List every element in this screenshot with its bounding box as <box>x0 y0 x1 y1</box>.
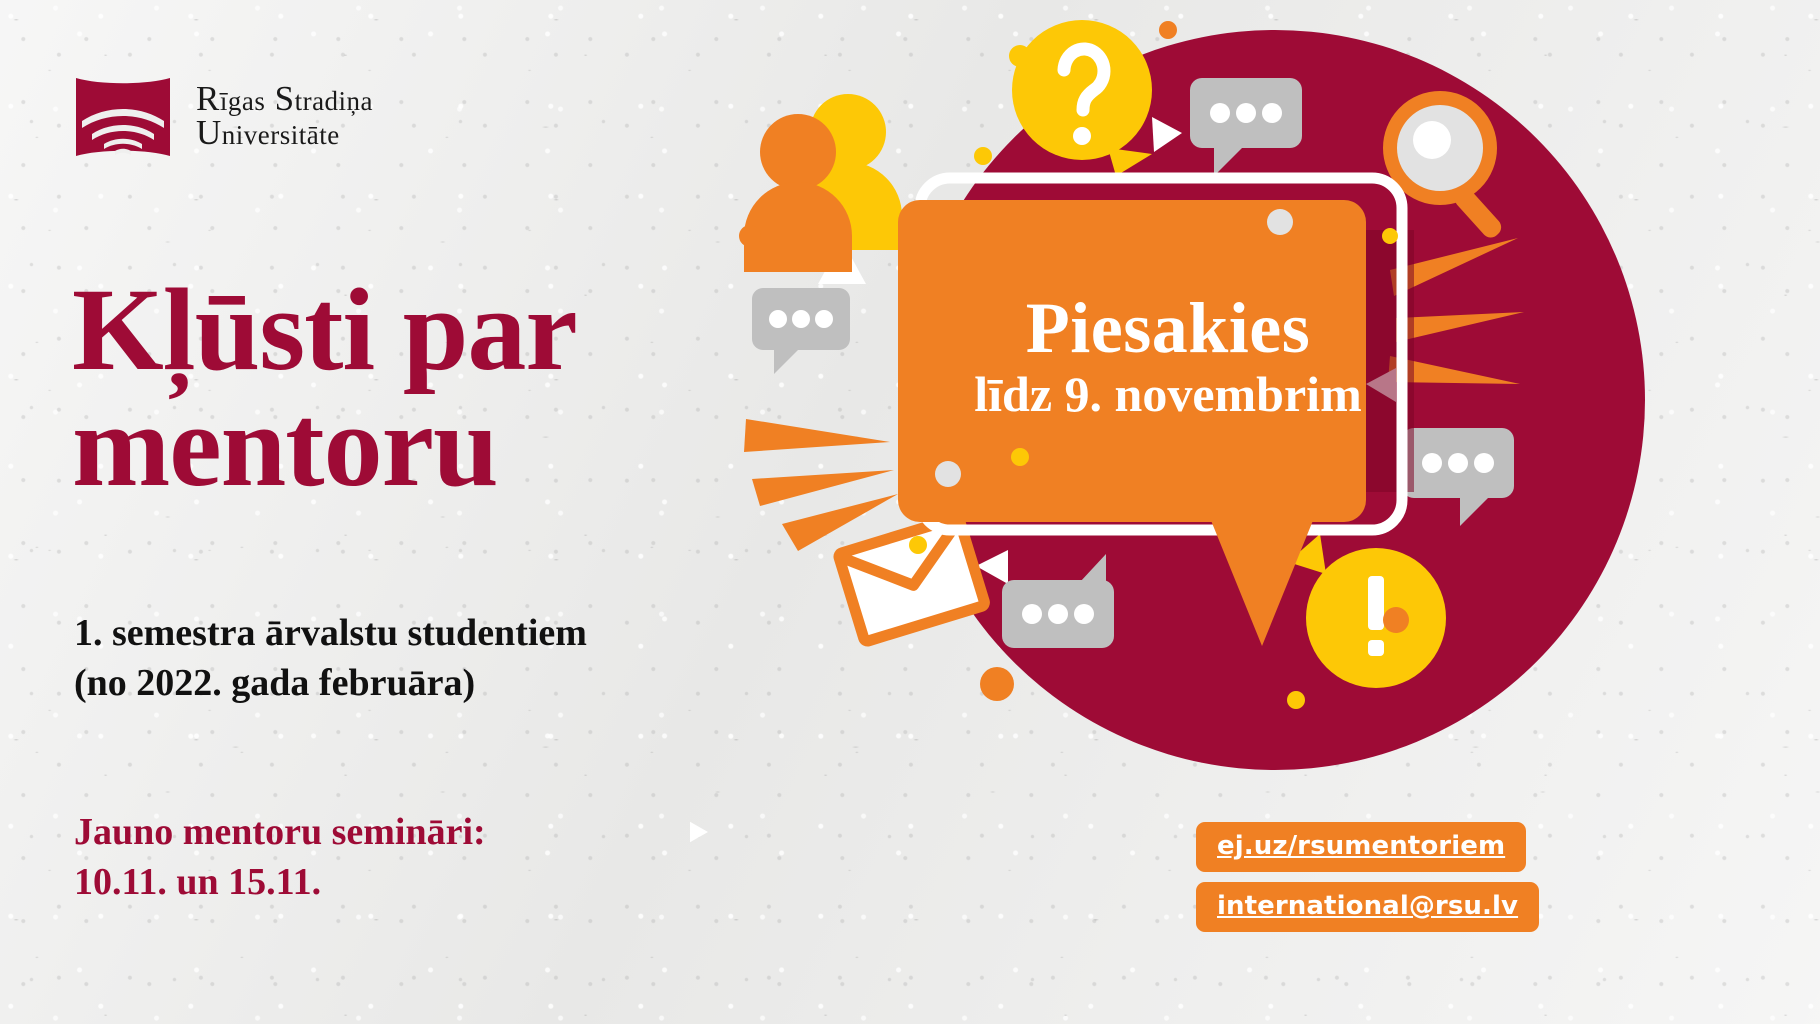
logo-line2-lead: U <box>196 113 222 152</box>
seminar-dates-value: 10.11. un 15.11. <box>74 857 486 907</box>
orange-rays-left <box>744 419 898 551</box>
chat-bubble-icon <box>752 288 850 374</box>
subtitle-line-1: 1. semestra ārvalstu studentiem <box>74 608 587 658</box>
contact-links: ej.uz/rsumentoriem international@rsu.lv <box>1196 822 1539 932</box>
seminar-dates: Jauno mentoru semināri: 10.11. un 15.11. <box>74 807 486 907</box>
rsu-amphitheatre-mark-icon <box>72 76 174 158</box>
page-title: Kļūsti par mentoru <box>72 272 577 503</box>
logo-line1-rest-b: tradiņa <box>295 86 373 116</box>
logo-line2-rest: niversitāte <box>222 120 340 150</box>
logo-line1-lead-b: S <box>275 79 295 118</box>
headline-line-2: mentoru <box>72 388 577 504</box>
subtitle: 1. semestra ārvalstu studentiem (no 2022… <box>74 608 587 708</box>
people-icon <box>744 94 902 272</box>
bubble-dot <box>935 461 961 487</box>
rsu-logo[interactable]: Rīgas Stradiņa Universitāte <box>72 76 373 158</box>
link-chip-shorturl[interactable]: ej.uz/rsumentoriem <box>1196 822 1526 872</box>
subtitle-line-2: (no 2022. gada februāra) <box>74 658 587 708</box>
envelope-icon <box>838 517 985 642</box>
seminar-label: Jauno mentoru semināri: <box>74 807 486 857</box>
link-chip-email[interactable]: international@rsu.lv <box>1196 882 1539 932</box>
bubble-dot <box>1267 209 1293 235</box>
headline-line-1: Kļūsti par <box>72 272 577 388</box>
logo-line1-rest-a: īgas <box>220 86 266 116</box>
rsu-logo-wordmark: Rīgas Stradiņa Universitāte <box>196 76 373 149</box>
